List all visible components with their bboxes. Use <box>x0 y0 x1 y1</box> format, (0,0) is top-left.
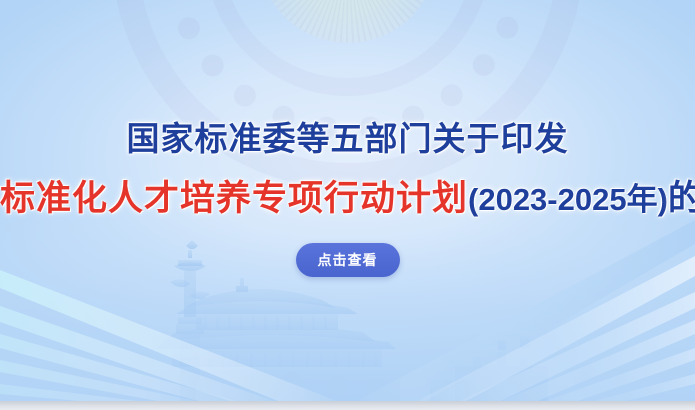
banner-title-line-2: 标准化人才培养专项行动计划(2023-2025年)的通知 <box>0 176 695 223</box>
promo-banner: 国家标准委等五部门关于印发 标准化人才培养专项行动计划(2023-2025年)的… <box>0 0 695 410</box>
banner-title-suffix: 的通知 <box>668 179 695 218</box>
bottom-edge-bar <box>0 401 695 410</box>
view-details-button[interactable]: 点击查看 <box>296 243 400 277</box>
banner-title-plan-name: 标准化人才培养专项行动计划 <box>0 179 468 218</box>
banner-title-year-range: (2023-2025年) <box>468 182 668 217</box>
banner-content: 国家标准委等五部门关于印发 标准化人才培养专项行动计划(2023-2025年)的… <box>0 0 695 410</box>
banner-title-line-1: 国家标准委等五部门关于印发 <box>0 118 695 160</box>
